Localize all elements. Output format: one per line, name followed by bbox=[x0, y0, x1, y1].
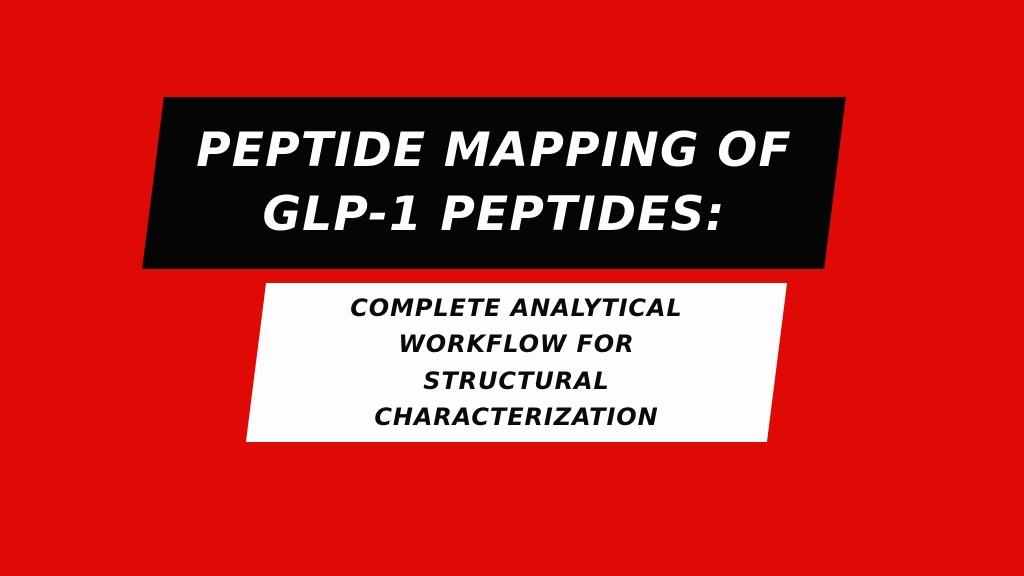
subtitle-line-2: WORKFLOW FOR bbox=[266, 326, 767, 362]
subtitle-line-1: COMPLETE ANALYTICAL bbox=[266, 290, 767, 326]
title-line-2: GLP-1 PEPTIDES: bbox=[167, 183, 821, 247]
subtitle-box: COMPLETE ANALYTICAL WORKFLOW FOR STRUCTU… bbox=[246, 283, 787, 442]
title-banner: PEPTIDE MAPPING OF GLP-1 PEPTIDES: bbox=[142, 97, 846, 269]
subtitle-text-group: COMPLETE ANALYTICAL WORKFLOW FOR STRUCTU… bbox=[256, 290, 777, 436]
subtitle-line-4: CHARACTERIZATION bbox=[266, 399, 767, 435]
title-banner-text-group: PEPTIDE MAPPING OF GLP-1 PEPTIDES: bbox=[153, 119, 835, 247]
subtitle-line-3: STRUCTURAL bbox=[266, 363, 767, 399]
title-line-1: PEPTIDE MAPPING OF bbox=[167, 119, 821, 183]
title-slide: PEPTIDE MAPPING OF GLP-1 PEPTIDES: COMPL… bbox=[0, 0, 1024, 576]
